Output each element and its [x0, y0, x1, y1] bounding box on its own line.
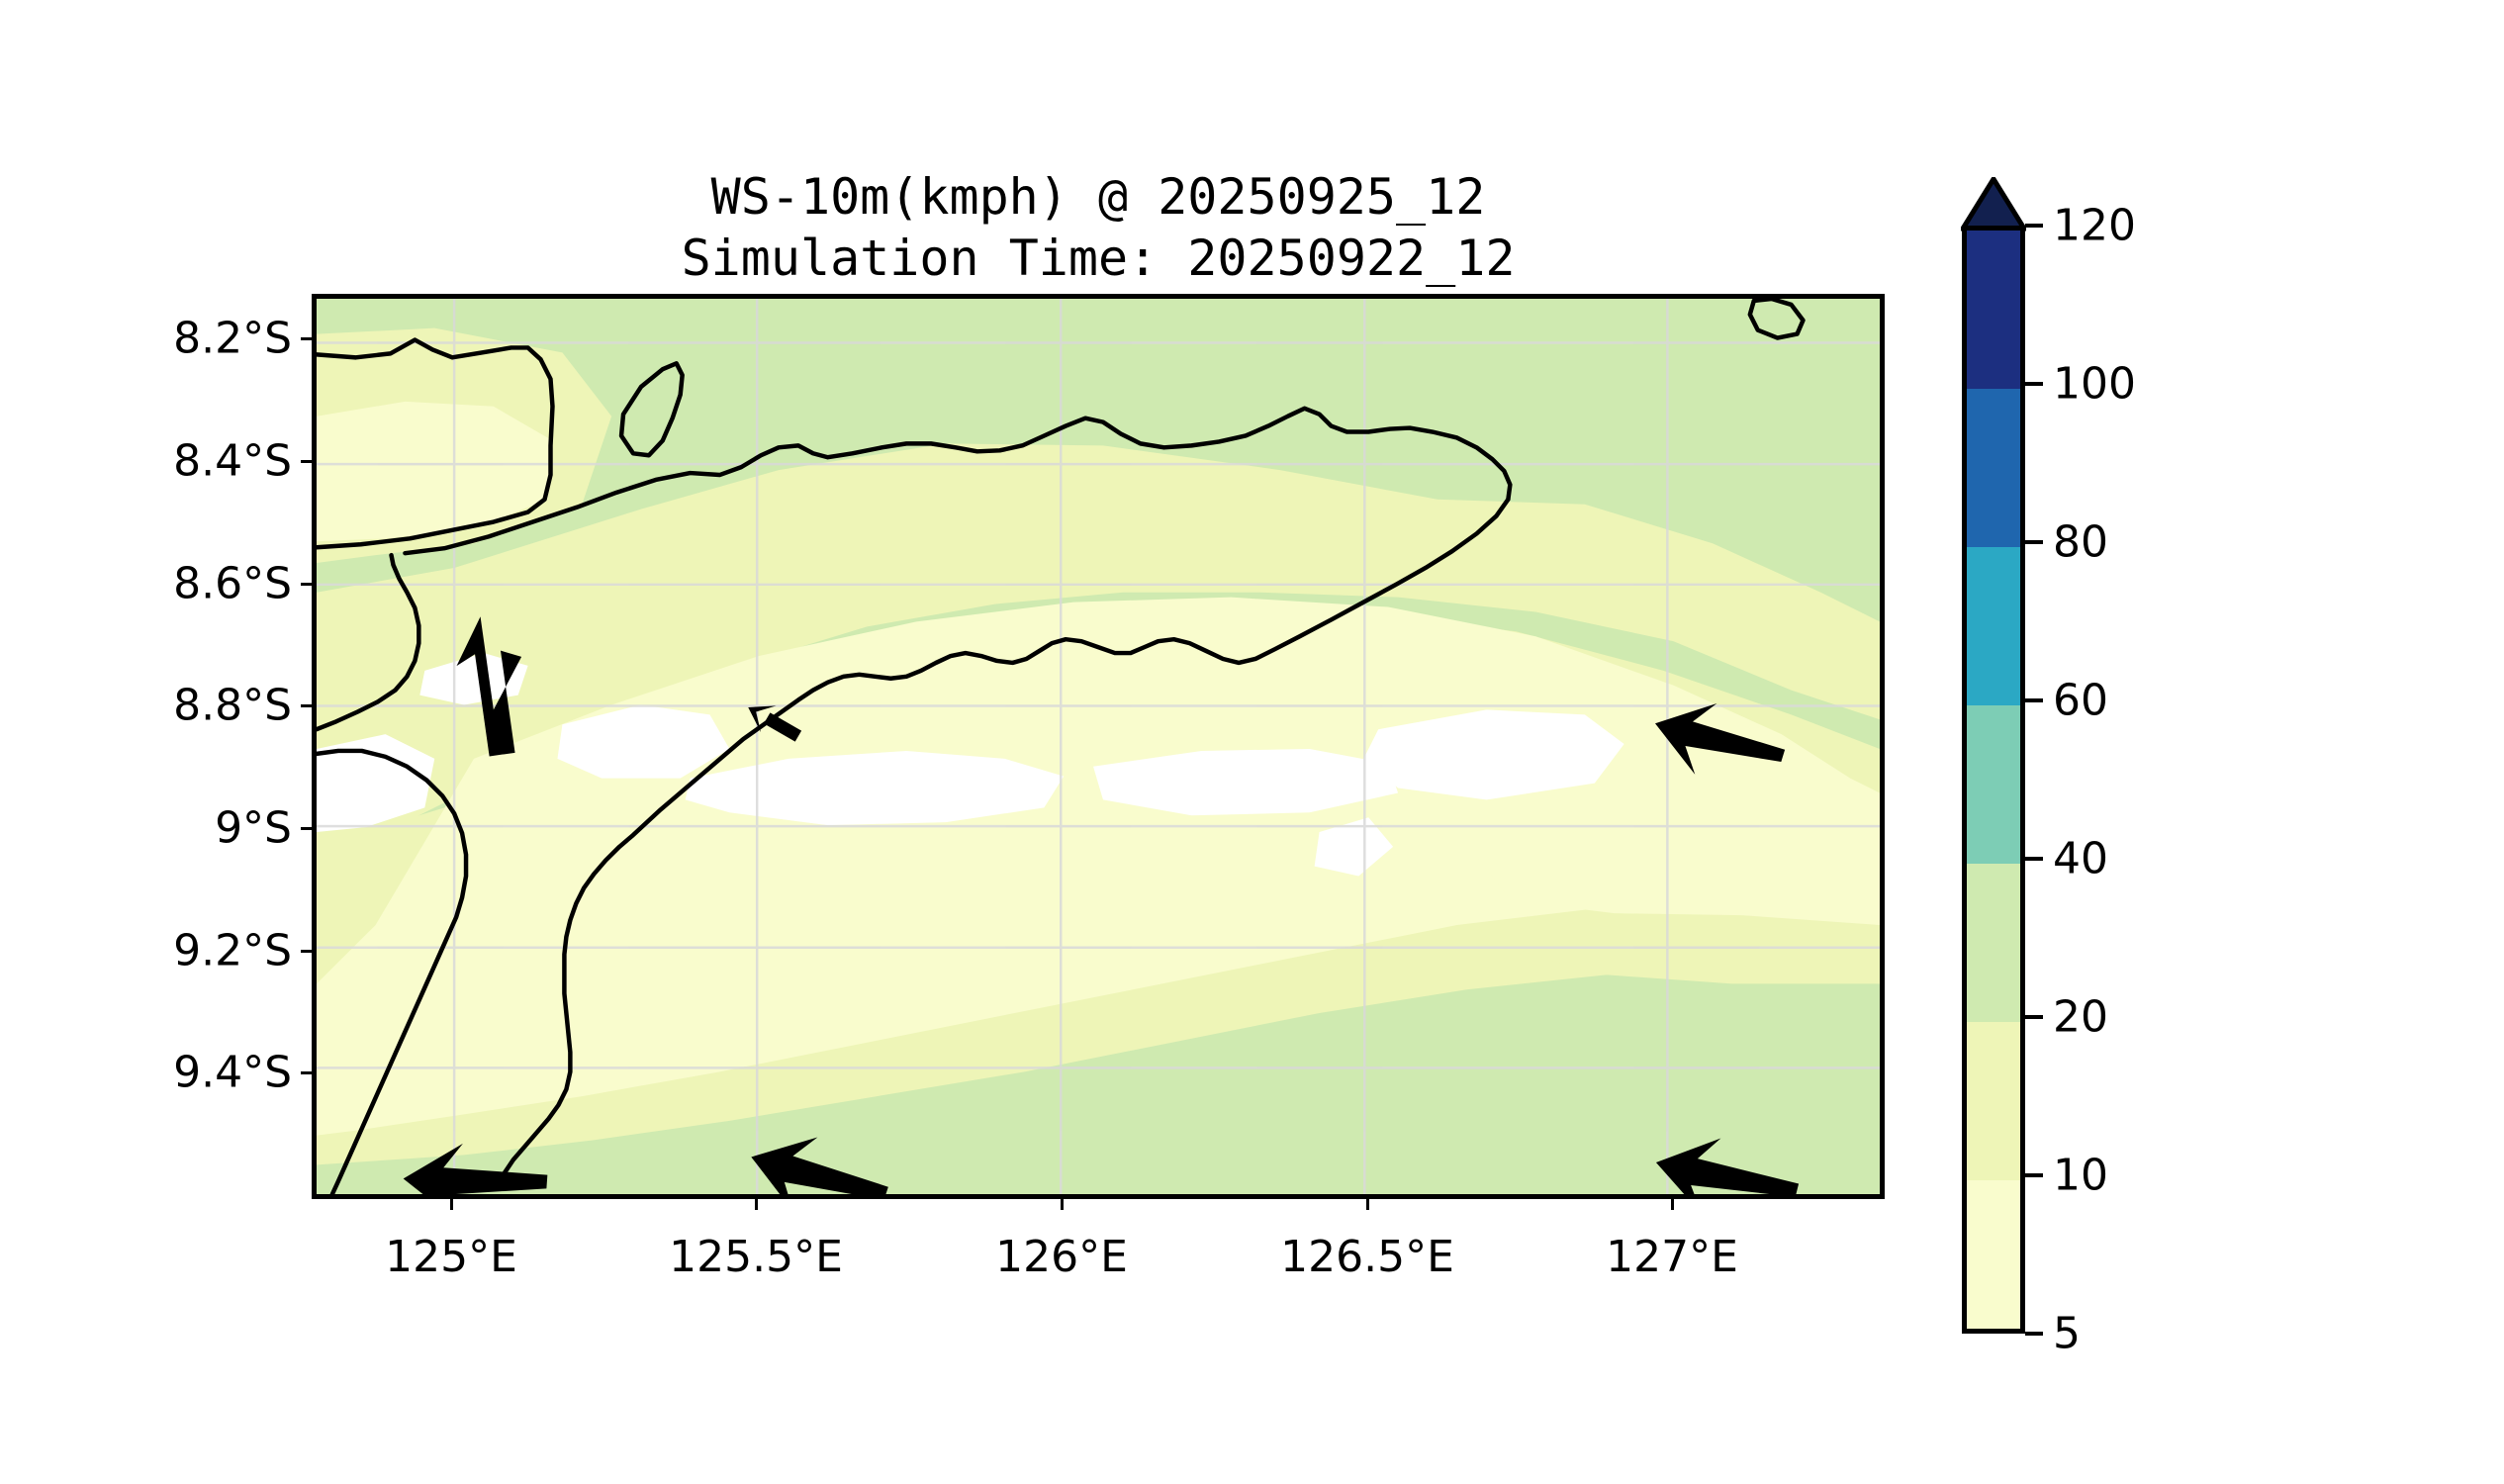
xtick-label-125-5e: 125.5°E: [669, 1232, 843, 1282]
title-line-1: WS-10m(kmph) @ 20250925_12: [312, 166, 1885, 228]
ytick-mark: [301, 460, 312, 463]
colorbar-label-10: 10: [2053, 1151, 2108, 1201]
ytick-mark: [301, 1071, 312, 1074]
ytick-mark: [301, 704, 312, 707]
xtick-mark: [1671, 1199, 1674, 1210]
ytick-label-8-2s: 8.2°S: [109, 314, 292, 364]
xtick-label-126-5e: 126.5°E: [1280, 1232, 1454, 1282]
colorbar-tick: [2025, 857, 2043, 861]
ytick-label-8-8s: 8.8°S: [109, 681, 292, 731]
map-axes[interactable]: [312, 294, 1885, 1199]
colorbar-extend-arrow: [1961, 177, 2026, 232]
ytick-label-9-4s: 9.4°S: [109, 1048, 292, 1098]
colorbar-band-20-40: [1967, 864, 2020, 1022]
xtick-label-126e: 126°E: [995, 1232, 1128, 1282]
colorbar-label-5: 5: [2053, 1309, 2081, 1359]
colorbar-label-80: 80: [2053, 517, 2108, 568]
ytick-mark: [301, 337, 312, 340]
colorbar-band-100-120: [1967, 231, 2020, 389]
colorbar-tick: [2025, 1173, 2043, 1177]
ytick-label-9s: 9°S: [109, 803, 292, 854]
colorbar[interactable]: 120 100 80 60 40 20 10 5: [1962, 178, 2025, 1334]
colorbar-label-100: 100: [2053, 359, 2136, 410]
xtick-mark: [755, 1199, 758, 1210]
colorbar-band-60-80: [1967, 547, 2020, 705]
colorbar-label-20: 20: [2053, 992, 2108, 1043]
colorbar-tick: [2025, 698, 2043, 702]
colorbar-band-5-10: [1967, 1180, 2020, 1329]
colorbar-tick: [2025, 1332, 2043, 1336]
xtick-mark: [1366, 1199, 1369, 1210]
ytick-mark: [301, 950, 312, 953]
ytick-mark: [301, 583, 312, 586]
colorbar-gradient[interactable]: [1962, 226, 2025, 1334]
colorbar-label-40: 40: [2053, 834, 2108, 884]
title-line-2: Simulation Time: 20250922_12: [312, 228, 1885, 289]
ytick-label-8-4s: 8.4°S: [109, 436, 292, 487]
colorbar-tick: [2025, 540, 2043, 544]
ytick-label-9-2s: 9.2°S: [109, 926, 292, 976]
colorbar-tick: [2025, 224, 2043, 228]
colorbar-label-60: 60: [2053, 676, 2108, 726]
colorbar-label-120: 120: [2053, 201, 2136, 251]
colorbar-band-10-20: [1967, 1022, 2020, 1180]
colorbar-band-80-100: [1967, 389, 2020, 547]
ytick-mark: [301, 827, 312, 830]
figure-canvas: WS-10m(kmph) @ 20250925_12 Simulation Ti…: [0, 0, 2504, 1484]
xtick-mark: [450, 1199, 453, 1210]
chart-title: WS-10m(kmph) @ 20250925_12 Simulation Ti…: [312, 166, 1885, 289]
colorbar-tick: [2025, 382, 2043, 386]
xtick-label-125e: 125°E: [385, 1232, 517, 1282]
windspeed-contour-map: [317, 299, 1880, 1194]
xtick-label-127e: 127°E: [1606, 1232, 1738, 1282]
colorbar-tick: [2025, 1015, 2043, 1019]
colorbar-band-40-60: [1967, 705, 2020, 864]
ytick-label-8-6s: 8.6°S: [109, 559, 292, 609]
xtick-mark: [1061, 1199, 1064, 1210]
